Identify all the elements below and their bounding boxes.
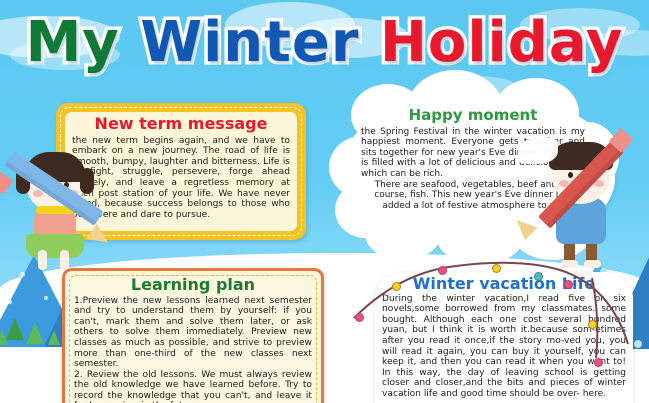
title-word-winter: Winter — [140, 10, 359, 75]
wing-decoration — [518, 138, 558, 164]
learning-plan-item-1: 1.Preview the new lessons learned next s… — [74, 296, 312, 370]
light-bulb — [492, 264, 501, 273]
title-word-my: My — [26, 10, 120, 75]
light-bulb — [438, 266, 447, 275]
boy-eye — [568, 172, 573, 178]
boy-shoe — [584, 260, 601, 268]
tree-shape — [26, 322, 44, 344]
boy-character — [530, 140, 634, 270]
boy-shoe — [561, 260, 578, 268]
snow-dot — [44, 296, 48, 300]
tree-shape — [0, 330, 8, 345]
light-bulb — [355, 313, 364, 322]
poster-canvas: My Winter Holiday New term message the n… — [0, 0, 649, 403]
happy-moment-heading: Happy moment — [361, 108, 585, 124]
light-bulb — [392, 282, 401, 291]
tree-shape — [48, 330, 60, 345]
snow-dot — [20, 272, 25, 277]
girl-leg — [60, 250, 69, 270]
girl-leg — [38, 250, 47, 270]
panel-inner-surface: Learning plan 1.Preview the new lessons … — [74, 277, 312, 403]
snow-dot — [8, 300, 12, 304]
girl-cheek — [33, 190, 43, 197]
panel-learning-plan[interactable]: Learning plan 1.Preview the new lessons … — [62, 268, 324, 403]
learning-plan-heading: Learning plan — [74, 277, 312, 294]
light-bulb — [594, 358, 603, 367]
poster-title: My Winter Holiday — [0, 4, 649, 82]
girl-skirt — [26, 234, 84, 258]
tree-shape — [6, 318, 24, 340]
light-bulb — [588, 320, 597, 329]
girl-character — [4, 150, 108, 270]
girl-pigtail — [80, 168, 94, 194]
light-bulb — [534, 272, 543, 281]
light-bulb — [564, 280, 573, 289]
new-term-heading: New term message — [72, 116, 290, 133]
pencil-eraser — [0, 170, 13, 194]
learning-plan-item-2: 2. Review the old lessons. We must alway… — [74, 370, 312, 403]
title-word-holiday: Holiday — [380, 10, 623, 75]
